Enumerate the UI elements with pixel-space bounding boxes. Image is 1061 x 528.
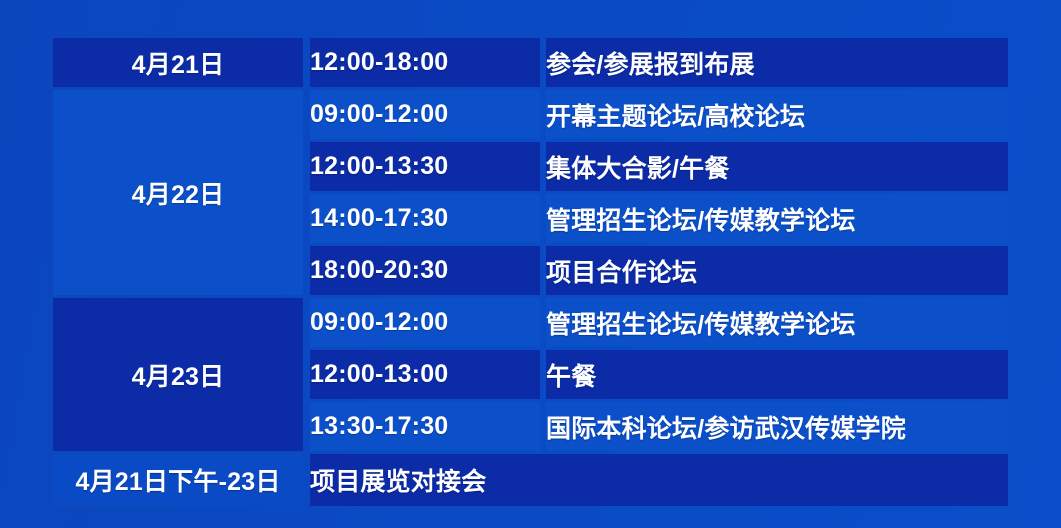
- schedule-table-body: 4月21日 12:00-18:00 参会/参展报到布展 4月22日 09:00-…: [53, 38, 1008, 506]
- time-cell-3: 14:00-17:30: [310, 194, 540, 246]
- column-gutter-1: [303, 246, 310, 298]
- event-cell-3: 管理招生论坛/传媒教学论坛: [546, 194, 1008, 246]
- event-cell-7: 国际本科论坛/参访武汉传媒学院: [546, 402, 1008, 454]
- column-gutter-1: [303, 350, 310, 402]
- table-row: 4月21日 12:00-18:00 参会/参展报到布展: [53, 38, 1008, 90]
- column-gutter-1: [303, 402, 310, 454]
- time-cell-7: 13:30-17:30: [310, 402, 540, 454]
- time-cell-1: 09:00-12:00: [310, 90, 540, 142]
- column-gutter-1: [303, 38, 310, 90]
- event-cell-1: 开幕主题论坛/高校论坛: [546, 90, 1008, 142]
- time-cell-4: 18:00-20:30: [310, 246, 540, 298]
- column-gutter-1: [303, 454, 310, 506]
- event-cell-2: 集体大合影/午餐: [546, 142, 1008, 194]
- date-cell-footer: 4月21日下午-23日: [53, 454, 303, 506]
- date-cell-1: 4月22日: [53, 90, 303, 298]
- event-cell-footer: 项目展览对接会: [310, 454, 1008, 506]
- event-cell-6: 午餐: [546, 350, 1008, 402]
- table-row-footer: 4月21日下午-23日 项目展览对接会: [53, 454, 1008, 506]
- time-cell-6: 12:00-13:00: [310, 350, 540, 402]
- date-cell-5: 4月23日: [53, 298, 303, 454]
- time-cell-5: 09:00-12:00: [310, 298, 540, 350]
- column-gutter-1: [303, 142, 310, 194]
- column-gutter-1: [303, 90, 310, 142]
- event-cell-0: 参会/参展报到布展: [546, 38, 1008, 90]
- column-gutter-1: [303, 194, 310, 246]
- date-cell-0: 4月21日: [53, 38, 303, 90]
- event-cell-4: 项目合作论坛: [546, 246, 1008, 298]
- event-cell-5: 管理招生论坛/传媒教学论坛: [546, 298, 1008, 350]
- table-row: 4月23日 09:00-12:00 管理招生论坛/传媒教学论坛: [53, 298, 1008, 350]
- schedule-table: 4月21日 12:00-18:00 参会/参展报到布展 4月22日 09:00-…: [53, 38, 1008, 506]
- table-row: 4月22日 09:00-12:00 开幕主题论坛/高校论坛: [53, 90, 1008, 142]
- schedule-poster: 4月21日 12:00-18:00 参会/参展报到布展 4月22日 09:00-…: [0, 0, 1061, 528]
- column-gutter-1: [303, 298, 310, 350]
- time-cell-0: 12:00-18:00: [310, 38, 540, 90]
- time-cell-2: 12:00-13:30: [310, 142, 540, 194]
